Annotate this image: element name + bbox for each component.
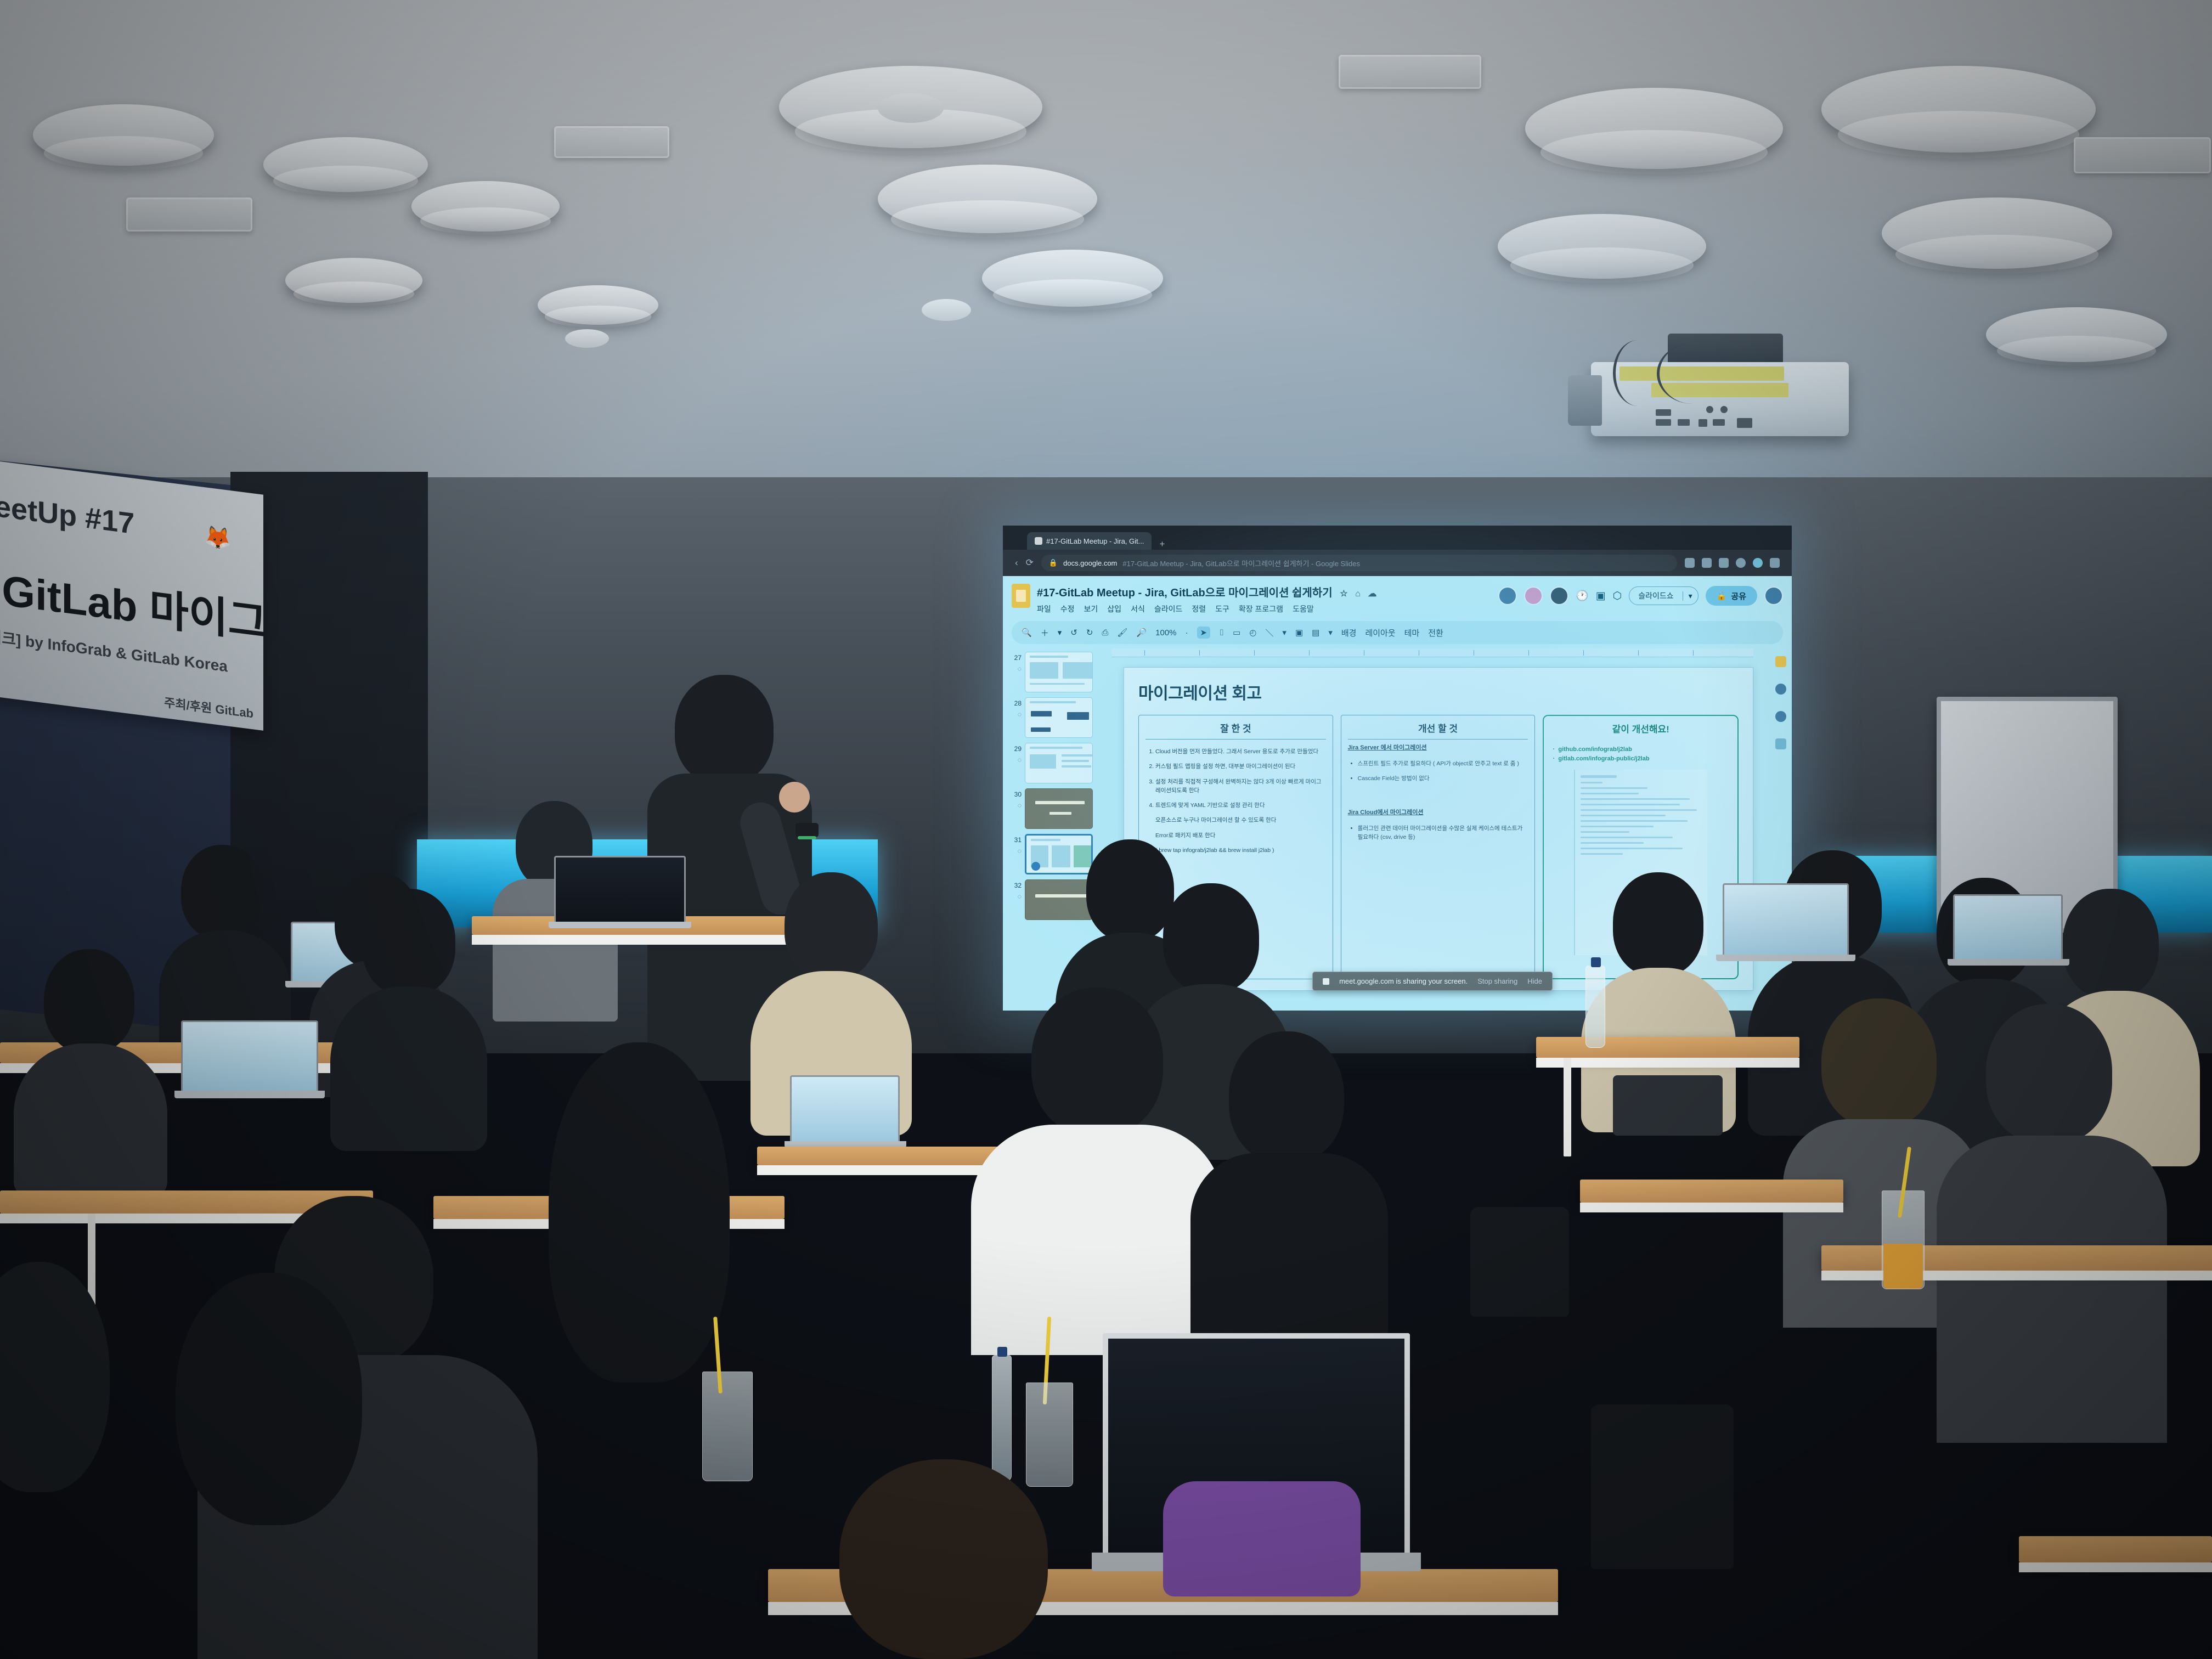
collaborator-avatar[interactable]: [1550, 586, 1568, 605]
ceiling-light: [1986, 307, 2167, 362]
account-avatar[interactable]: [1764, 586, 1783, 605]
stop-sharing-button[interactable]: Stop sharing: [1477, 977, 1517, 985]
subheading-jira-cloud: Jira Cloud에서 마이그레이션: [1348, 808, 1528, 816]
puzzle-icon[interactable]: [1736, 558, 1746, 568]
history-icon[interactable]: 🕐: [1576, 589, 1589, 602]
slide-thumbnail[interactable]: [1025, 743, 1093, 783]
comment-icon[interactable]: ▣: [1596, 590, 1606, 602]
menu-edit[interactable]: 수정: [1060, 603, 1075, 614]
audience-desk: [757, 1147, 1004, 1165]
toolbar-background[interactable]: 배경: [1341, 627, 1357, 639]
shape-icon[interactable]: ◴: [1249, 628, 1256, 637]
collaborator-avatar[interactable]: [1498, 586, 1517, 605]
drink-cup: [702, 1372, 753, 1481]
ceiling-light: [411, 181, 560, 232]
column-heading: 잘 한 것: [1145, 721, 1326, 740]
menu-bar: 파일 수정 보기 삽입 서식 슬라이드 정렬 도구 확장 프로그램 도움말: [1037, 603, 1492, 614]
projector-lens: [1568, 375, 1602, 426]
toolbar-theme[interactable]: 테마: [1404, 627, 1420, 639]
list-item: ( brew tap infograb/j2lab && brew instal…: [1155, 846, 1326, 855]
slide-thumbnail-active[interactable]: [1025, 834, 1093, 874]
list-item: 오픈소스로 누구나 마이그레이션 할 수 있도록 한다: [1155, 816, 1326, 825]
filmstrip-item[interactable]: 28◌: [1007, 697, 1093, 738]
column-to-improve: 개선 할 것 Jira Server 에서 마이그레이션 스프린트 필드 추가로…: [1341, 715, 1536, 979]
slides-toolbar: 🔍 ＋ ▾ ↺ ↻ ⎙ 🖌 🔎 100% · ➤ ⌷ ▭ ◴ ＼ ▾ ▣: [1012, 621, 1783, 644]
slide-thumbnail[interactable]: [1025, 652, 1093, 692]
drink-cup: [1026, 1383, 1073, 1487]
ceiling-light: [1821, 66, 2096, 153]
zoom-icon[interactable]: 🔎: [1136, 628, 1147, 637]
present-label: 슬라이드쇼: [1629, 590, 1682, 601]
keep-icon[interactable]: [1775, 656, 1786, 667]
ceiling: [0, 0, 2212, 538]
menu-view[interactable]: 보기: [1084, 603, 1098, 614]
list-item: 트렌드에 맞게 YAML 기반으로 설정 관리 한다: [1155, 801, 1326, 810]
repo-link[interactable]: github.com/infograb/j2lab: [1558, 746, 1731, 753]
extensions-row: [1685, 558, 1780, 568]
camera: [795, 823, 819, 837]
ceiling-light: [1525, 88, 1783, 169]
slide-number: 27◌: [1007, 652, 1022, 673]
backpack: [1591, 1404, 1734, 1569]
projector-mount: [1668, 334, 1783, 365]
slide-number: 29◌: [1007, 743, 1022, 764]
slides-doc-icon: [1012, 584, 1030, 608]
caret-down-icon[interactable]: ▾: [1058, 628, 1062, 637]
comment-box-icon[interactable]: ▣: [1295, 628, 1303, 637]
list-item: 스프린트 필드 추가로 필요하다 ( API가 object로 안주고 text…: [1358, 759, 1528, 768]
meet-icon[interactable]: ⬡: [1613, 590, 1622, 602]
separator-dot: ·: [1186, 628, 1188, 637]
slide-number: 31◌: [1007, 834, 1022, 855]
ceiling-light: [285, 258, 422, 303]
slide-number: 32◌: [1007, 879, 1022, 900]
filmstrip-item[interactable]: 27◌: [1007, 652, 1093, 692]
bookmark-icon[interactable]: [1719, 558, 1729, 568]
ceiling-light: [538, 285, 658, 325]
screen-share-toast: meet.google.com is sharing your screen. …: [1312, 972, 1553, 991]
header-actions: 🕐 ▣ ⬡ 슬라이드쇼 ▾ 🔒 공유: [1498, 584, 1783, 606]
audience-desk: [2019, 1536, 2212, 1562]
document-title[interactable]: #17-GitLab Meetup - Jira, GitLab으로 마이그레이…: [1037, 584, 1492, 600]
video-icon[interactable]: ▤: [1312, 628, 1319, 637]
menu-help[interactable]: 도움말: [1293, 603, 1314, 614]
slide-number: 30◌: [1007, 788, 1022, 809]
menu-arrange[interactable]: 정렬: [1192, 603, 1206, 614]
site-lock-icon: 🔒: [1049, 558, 1058, 567]
add-icon[interactable]: [1775, 738, 1786, 749]
filmstrip-item[interactable]: 29◌: [1007, 743, 1093, 783]
reload-icon[interactable]: ⟳: [1026, 557, 1034, 568]
ceiling-projector: [1591, 362, 1849, 436]
water-bottle: [1585, 966, 1605, 1048]
print-icon[interactable]: ⎙: [1102, 628, 1108, 637]
menu-insert[interactable]: 삽입: [1107, 603, 1121, 614]
screen-share-icon: [1323, 978, 1329, 985]
share-message: meet.google.com is sharing your screen.: [1339, 977, 1468, 985]
maps-icon[interactable]: [1775, 684, 1786, 695]
slides-header: #17-GitLab Meetup - Jira, GitLab으로 마이그레이…: [1003, 576, 1792, 614]
menu-slide[interactable]: 슬라이드: [1154, 603, 1183, 614]
list-item: Cascade Field는 방법이 없다: [1358, 774, 1528, 783]
collaborator-avatar[interactable]: [1524, 586, 1543, 605]
audience-desk: [1536, 1037, 1799, 1058]
desk-leg: [1564, 1058, 1571, 1156]
omnibox-input[interactable]: 🔒 docs.google.com #17-GitLab Meetup - Ji…: [1041, 555, 1677, 571]
column-heading: 개선 할 것: [1348, 721, 1528, 740]
tab-title: #17-GitLab Meetup - Jira, Git...: [1046, 537, 1144, 545]
slides-favicon-icon: [1035, 537, 1042, 545]
paint-format-icon[interactable]: 🖌: [1117, 628, 1127, 637]
star-icon[interactable]: ☆: [1340, 589, 1347, 599]
image-icon[interactable]: ▭: [1233, 628, 1240, 637]
menu-file[interactable]: 파일: [1037, 603, 1051, 614]
share-button[interactable]: 🔒 공유: [1706, 586, 1757, 606]
ceiling-light: [1882, 198, 2112, 269]
fox-logo-icon: 🦊: [204, 523, 232, 552]
subheading-jira-server: Jira Server 에서 마이그레이션: [1348, 743, 1528, 752]
repo-links: github.com/infograb/j2lab gitlab.com/inf…: [1558, 746, 1731, 762]
slide-number: 28◌: [1007, 697, 1022, 718]
select-tool-icon[interactable]: ➤: [1197, 627, 1211, 639]
new-tab-button[interactable]: +: [1156, 539, 1168, 550]
air-vent: [554, 126, 669, 158]
cloud-icon[interactable]: ☁: [1368, 589, 1376, 599]
back-chevron-icon[interactable]: ‹: [1015, 557, 1018, 568]
omnibox-url: docs.google.com: [1063, 559, 1117, 567]
plus-icon[interactable]: ＋: [1041, 627, 1049, 639]
ceiling-light: [263, 137, 428, 192]
profile-icon[interactable]: [1753, 558, 1763, 568]
well-done-list: Cloud 버전을 먼저 만들었다. 그래서 Server 용도로 추가로 만들…: [1155, 747, 1326, 855]
line-icon[interactable]: ＼: [1265, 627, 1273, 639]
repo-link[interactable]: gitlab.com/infograb-public/j2lab: [1558, 755, 1731, 762]
ceiling-light: [1498, 214, 1706, 279]
ceiling-light: [779, 66, 1042, 148]
filmstrip-item[interactable]: 30◌: [1007, 788, 1093, 829]
filmstrip-item-selected[interactable]: 31◌: [1007, 834, 1093, 874]
list-item: Cloud 버전을 먼저 만들었다. 그래서 Server 용도로 추가로 만들…: [1155, 747, 1326, 756]
omnibox-suffix: #17-GitLab Meetup - Jira, GitLab으로 마이그레이…: [1122, 558, 1360, 568]
smoke-detector: [922, 299, 971, 321]
browser-tab-bar: #17-GitLab Meetup - Jira, Git... +: [1003, 526, 1792, 550]
present-caret-icon[interactable]: ▾: [1683, 591, 1698, 601]
menu-tools[interactable]: 도구: [1215, 603, 1229, 614]
horizontal-ruler: [1111, 648, 1753, 657]
toolbar-layout[interactable]: 레이아웃: [1365, 627, 1395, 639]
audience-desk: [1580, 1180, 1843, 1203]
backpack: [1470, 1207, 1569, 1317]
list-item: 커스텀 필드 맵핑을 설정 하면, 대부분 마이그레이션이 된다: [1155, 762, 1326, 771]
caret-down-icon[interactable]: ▾: [1328, 628, 1333, 637]
smoke-detector: [878, 93, 944, 123]
slide-thumbnail[interactable]: [1025, 697, 1093, 738]
event-banner: a MeetUp #17 드 GitLab 마이그레이션 미디어크] by In…: [0, 459, 263, 731]
toolbar-transition[interactable]: 전환: [1428, 627, 1443, 639]
audience-desk: [1821, 1245, 2212, 1271]
browser-url-bar: ‹ ⟳ 🔒 docs.google.com #17-GitLab Meetup …: [1003, 550, 1792, 576]
textbox-icon[interactable]: ⌷: [1219, 628, 1224, 637]
jira-cloud-list: 롤러그인 관련 데이터 마이그레이션을 수많은 실제 케이스에 테스트가 필요하…: [1358, 824, 1528, 842]
banner-line-1: a MeetUp #17: [0, 483, 134, 541]
search-icon[interactable]: 🔍: [1022, 628, 1032, 637]
water-bottle: [992, 1355, 1012, 1481]
column-heading: 같이 개선해요!: [1550, 721, 1731, 740]
move-icon[interactable]: ⌂: [1355, 589, 1361, 599]
air-vent: [2074, 137, 2211, 173]
filmstrip-item[interactable]: 32◌: [1007, 879, 1093, 920]
lock-person-icon: 🔒: [1717, 591, 1727, 601]
present-button[interactable]: 슬라이드쇼 ▾: [1629, 586, 1698, 605]
zoom-level[interactable]: 100%: [1155, 628, 1176, 637]
menu-format[interactable]: 서식: [1131, 603, 1145, 614]
ceiling-light: [33, 104, 214, 166]
smoke-detector: [565, 329, 609, 348]
share-label: 공유: [1731, 590, 1746, 602]
caret-down-icon[interactable]: ▾: [1282, 628, 1286, 637]
list-item: Error로 패키지 배포 한다: [1155, 831, 1326, 840]
ceiling-light: [878, 165, 1097, 233]
ceiling-light: [982, 250, 1163, 307]
redo-icon[interactable]: ↻: [1086, 628, 1093, 637]
list-item: 설정 처리를 직접적 구성해서 완벽하지는 않다 3개 이상 빠르게 마이그레이…: [1155, 777, 1326, 795]
menu-icon[interactable]: [1770, 558, 1780, 568]
slide-title: 마이그레이션 회고: [1138, 680, 1739, 704]
download-icon[interactable]: [1702, 558, 1712, 568]
browser-tab[interactable]: #17-GitLab Meetup - Jira, Git...: [1027, 532, 1152, 550]
hide-toast-button[interactable]: Hide: [1527, 977, 1542, 985]
menu-extensions[interactable]: 확장 프로그램: [1239, 603, 1283, 614]
air-vent: [126, 198, 252, 232]
jira-server-list: 스프린트 필드 추가로 필요하다 ( API가 object로 안주고 text…: [1358, 759, 1528, 783]
air-vent: [1339, 55, 1481, 89]
laptop-sleeve: [1613, 1075, 1723, 1136]
list-item: 롤러그인 관련 데이터 마이그레이션을 수많은 실제 케이스에 테스트가 필요하…: [1358, 824, 1528, 842]
shield-icon[interactable]: [1685, 558, 1695, 568]
slide-thumbnail[interactable]: [1025, 788, 1093, 829]
slide-thumbnail[interactable]: [1025, 879, 1093, 920]
contacts-icon[interactable]: [1775, 711, 1786, 722]
presenter-hand: [779, 782, 810, 812]
purple-jacket: [1163, 1481, 1361, 1596]
undo-icon[interactable]: ↺: [1070, 628, 1077, 637]
banner-line-4: 주최/후원 GitLab: [164, 693, 253, 722]
meetup-room-photo: a MeetUp #17 드 GitLab 마이그레이션 미디어크] by In…: [0, 0, 2212, 1659]
